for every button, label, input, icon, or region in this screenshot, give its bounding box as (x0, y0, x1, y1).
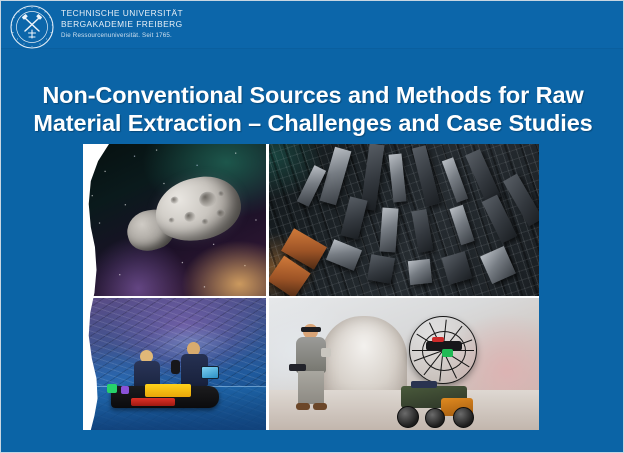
rover-sensor-bar (411, 381, 437, 388)
rover-wheel-front (397, 406, 419, 428)
collage-quadrant-ar-operator-drone-rover (269, 298, 539, 430)
ground-robot-rover (395, 380, 481, 426)
collage-quadrant-aerial-city-view (269, 144, 539, 296)
collage-quadrant-underwater-mine-auv (83, 298, 267, 430)
image-collage (83, 144, 539, 430)
institution-name-line2: BERGAKADEMIE FREIBERG (61, 19, 301, 30)
operator-controller (289, 364, 306, 371)
drone-green-light (442, 349, 453, 357)
auv-yellow-module (145, 384, 191, 397)
operator-tablet (321, 348, 331, 357)
ar-headset-operator (293, 324, 331, 412)
university-logo-icon (8, 4, 56, 50)
rover-wheel-rear (453, 407, 474, 428)
slide-title-line1: Non-Conventional Sources and Methods for… (1, 81, 624, 109)
auv-red-module (131, 398, 175, 406)
slide-title-line2: Material Extraction – Challenges and Cas… (1, 109, 624, 137)
presentation-slide: TECHNISCHE UNIVERSITÄT BERGAKADEMIE FREI… (0, 0, 624, 453)
institution-name-line1: TECHNISCHE UNIVERSITÄT (61, 8, 301, 19)
slide-title: Non-Conventional Sources and Methods for… (1, 81, 624, 137)
header-divider (1, 48, 624, 49)
collage-quadrant-asteroid-in-space (83, 144, 267, 296)
caged-drone (409, 316, 477, 384)
auv-purple-light (121, 386, 129, 394)
auv-green-light (107, 384, 117, 393)
drone-red-light (432, 337, 444, 342)
institution-tagline: Die Ressourcenuniversität. Seit 1765. (61, 32, 301, 39)
rover-wheel-mid (425, 408, 445, 428)
ar-headset-icon (301, 327, 321, 332)
brand-wordmark: TECHNISCHE UNIVERSITÄT BERGAKADEMIE FREI… (61, 8, 301, 39)
camera-mast (171, 360, 180, 374)
collage-vertical-divider (266, 144, 269, 430)
